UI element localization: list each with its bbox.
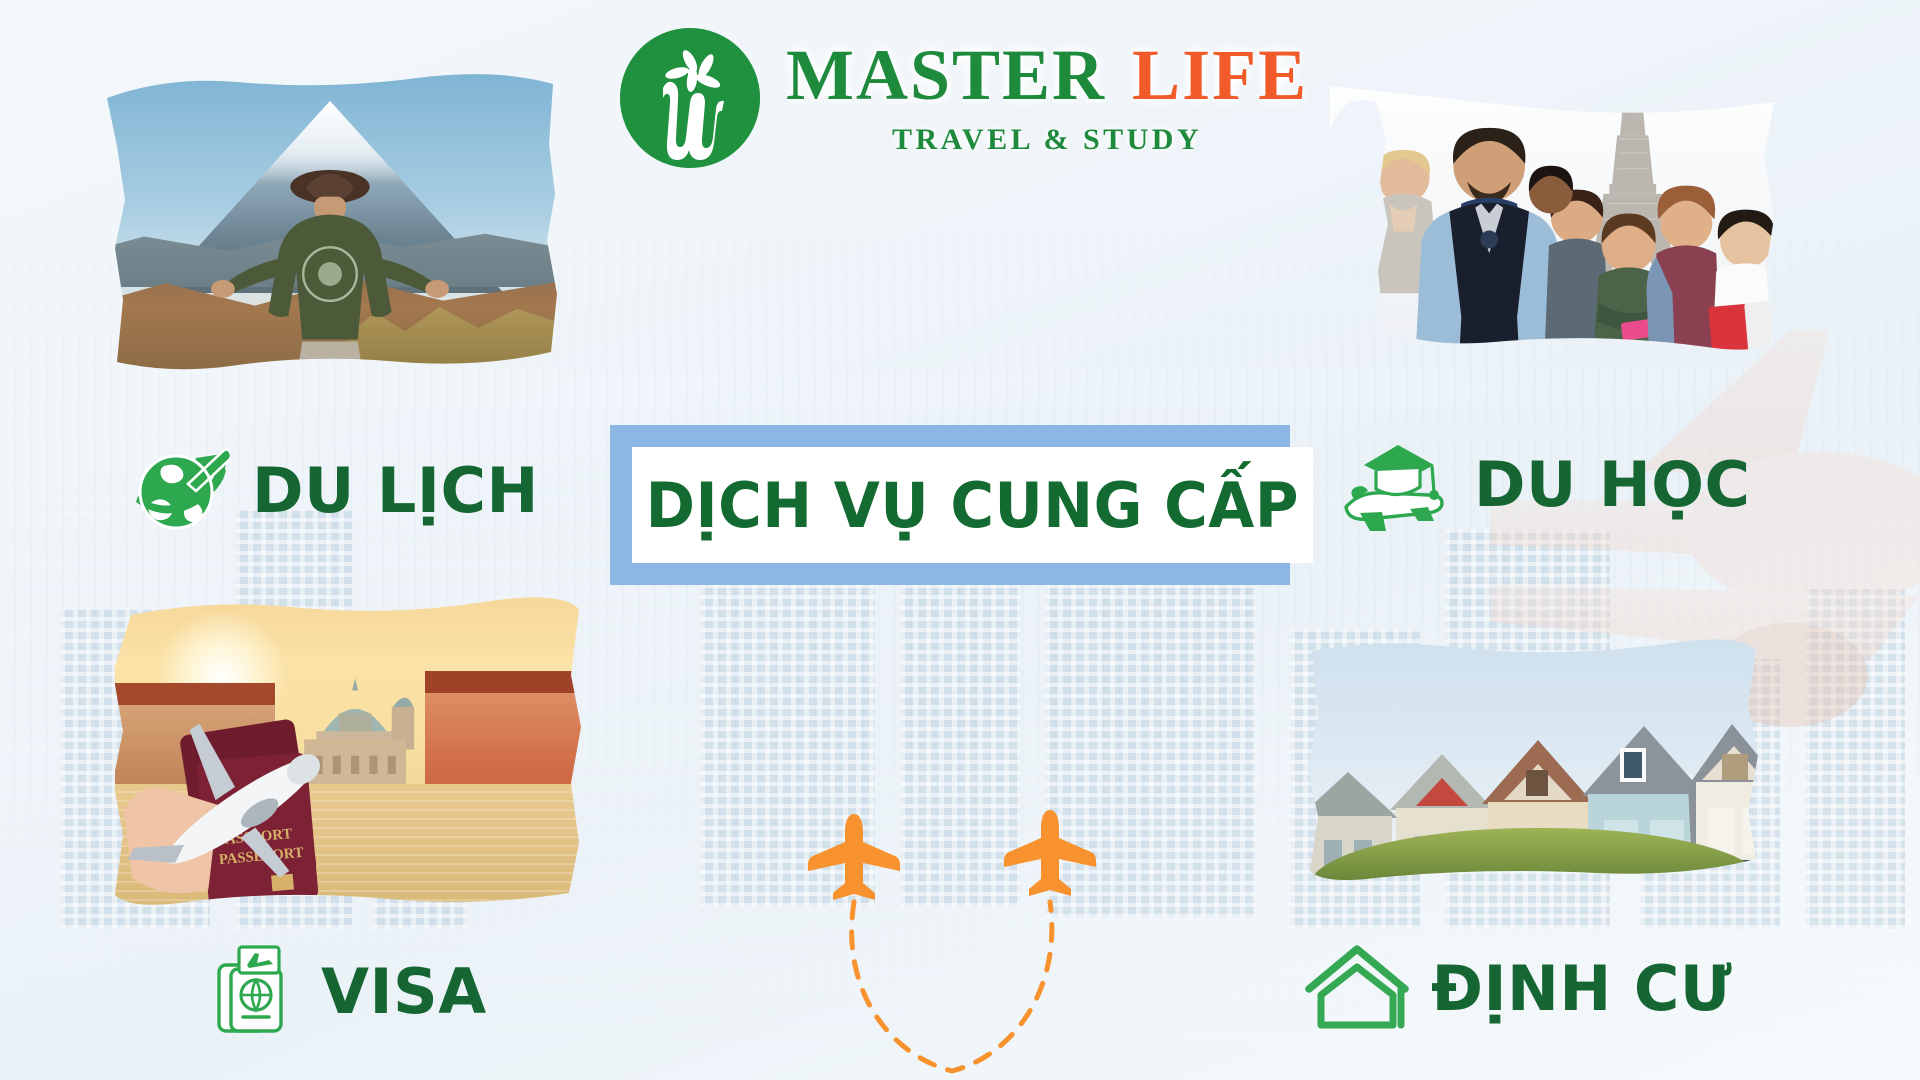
airplane-icon (808, 814, 900, 900)
service-label-study: DU HỌC (1474, 448, 1751, 521)
graduation-plane-icon (1340, 435, 1452, 533)
venice-roof-right (425, 671, 585, 693)
photo-card-settlement (1290, 635, 1765, 910)
traveller-figure (208, 157, 452, 380)
photo-card-travel (95, 70, 565, 380)
service-label-travel: DU LỊCH (252, 454, 539, 527)
house-icon (1305, 945, 1409, 1031)
students-group (1300, 108, 1773, 392)
passport-icon (215, 945, 299, 1037)
brand-logo: MASTER LIFE TRAVEL & STUDY (620, 28, 1308, 168)
brand-name-secondary: LIFE (1132, 39, 1308, 111)
photo-card-study (1300, 62, 1775, 392)
brand-name-primary: MASTER (786, 39, 1106, 111)
brand-tagline: TRAVEL & STUDY (892, 123, 1202, 157)
dashed-flight-path (852, 902, 1052, 1071)
photo-scene-venice: PASSPORT PASSEPORT (115, 595, 585, 910)
airplane-icon (1004, 810, 1096, 896)
globe-plane-icon (130, 440, 230, 540)
photo-scene-mountain (95, 70, 565, 380)
flight-route-decoration (800, 790, 1100, 1080)
service-label-settlement: ĐỊNH CƯ (1431, 952, 1732, 1025)
service-item-visa[interactable]: VISA (215, 945, 487, 1037)
service-item-settlement[interactable]: ĐỊNH CƯ (1305, 945, 1732, 1031)
service-item-study[interactable]: DU HỌC (1340, 435, 1751, 533)
photo-scene-students (1300, 62, 1775, 392)
passports-and-toy-plane: PASSPORT PASSEPORT (124, 702, 350, 910)
logo-badge-icon (620, 28, 760, 168)
service-item-travel[interactable]: DU LỊCH (130, 440, 539, 540)
services-title-frame: DỊCH VỤ CUNG CẤP (610, 425, 1290, 585)
page-title: DỊCH VỤ CUNG CẤP (646, 469, 1299, 542)
services-title-inner: DỊCH VỤ CUNG CẤP (632, 447, 1313, 563)
photo-card-visa: PASSPORT PASSEPORT (115, 595, 585, 910)
photo-scene-houses (1290, 635, 1765, 910)
service-label-visa: VISA (321, 955, 487, 1028)
